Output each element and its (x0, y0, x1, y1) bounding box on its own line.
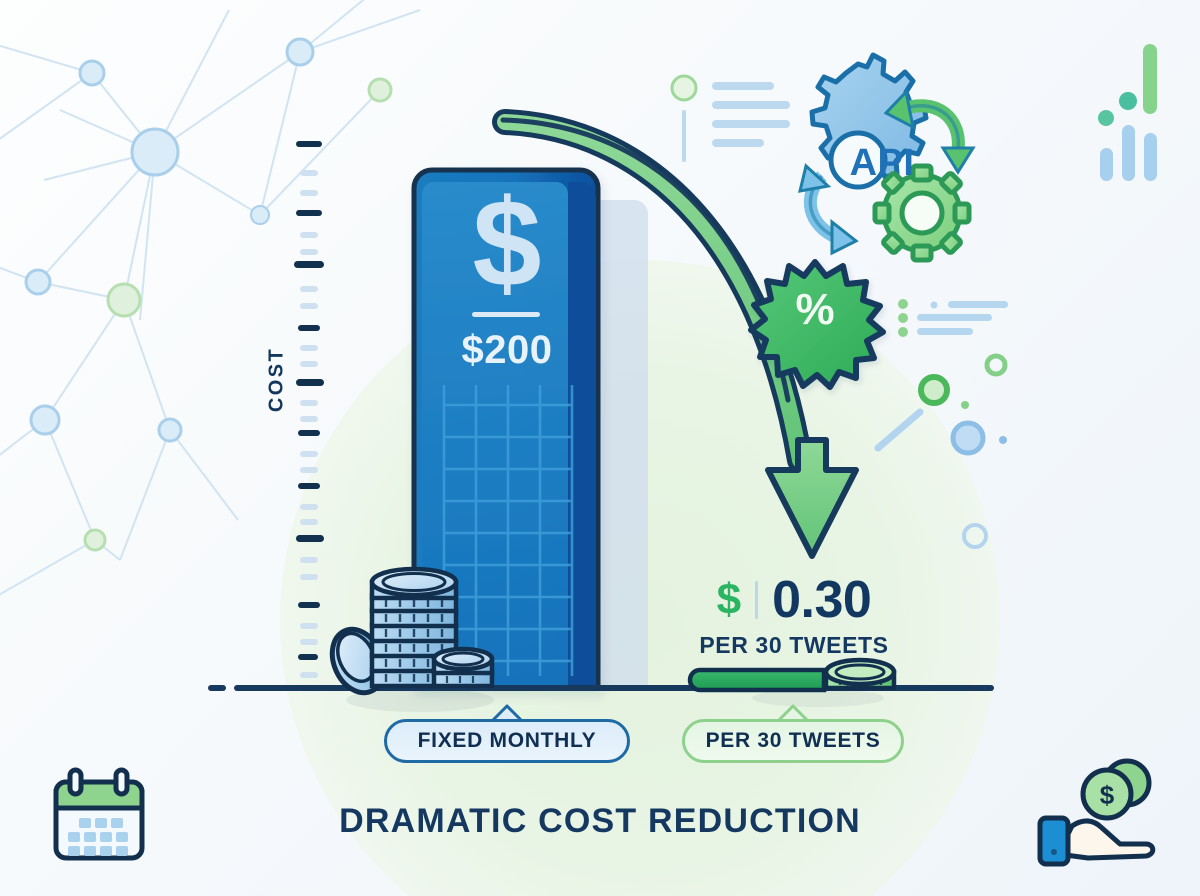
callout-fixed-monthly[interactable]: FIXED MONTHLY (384, 719, 630, 763)
green-coin (826, 660, 894, 688)
short-coin-stack (434, 649, 492, 686)
percent-symbol: % (778, 288, 852, 332)
per-tweet-price-row: $ 0.30 (668, 572, 920, 628)
price-unit-label: PER 30 TWEETS (668, 632, 920, 659)
infographic-canvas: $ COST $ $200 $ 0.30 PER 30 TWEETS FIXED… (0, 0, 1200, 896)
cost-axis-ruler (294, 141, 324, 678)
per-tweet-bar-and-coin (690, 660, 894, 707)
api-label: API (822, 142, 942, 185)
per-tweet-bar (690, 670, 824, 690)
bar-currency-glyph: $ (418, 182, 596, 306)
axis-label-cost: COST (266, 335, 289, 425)
price-currency-symbol: $ (717, 578, 755, 622)
arrowhead (768, 440, 856, 556)
page-title: DRAMATIC COST REDUCTION (0, 802, 1200, 841)
ghost-bar (596, 200, 648, 688)
callout-per-30-tweets[interactable]: PER 30 TWEETS (682, 719, 904, 763)
price-value: 0.30 (772, 574, 871, 626)
bar-price-label: $200 (418, 328, 596, 373)
price-divider (755, 581, 758, 619)
